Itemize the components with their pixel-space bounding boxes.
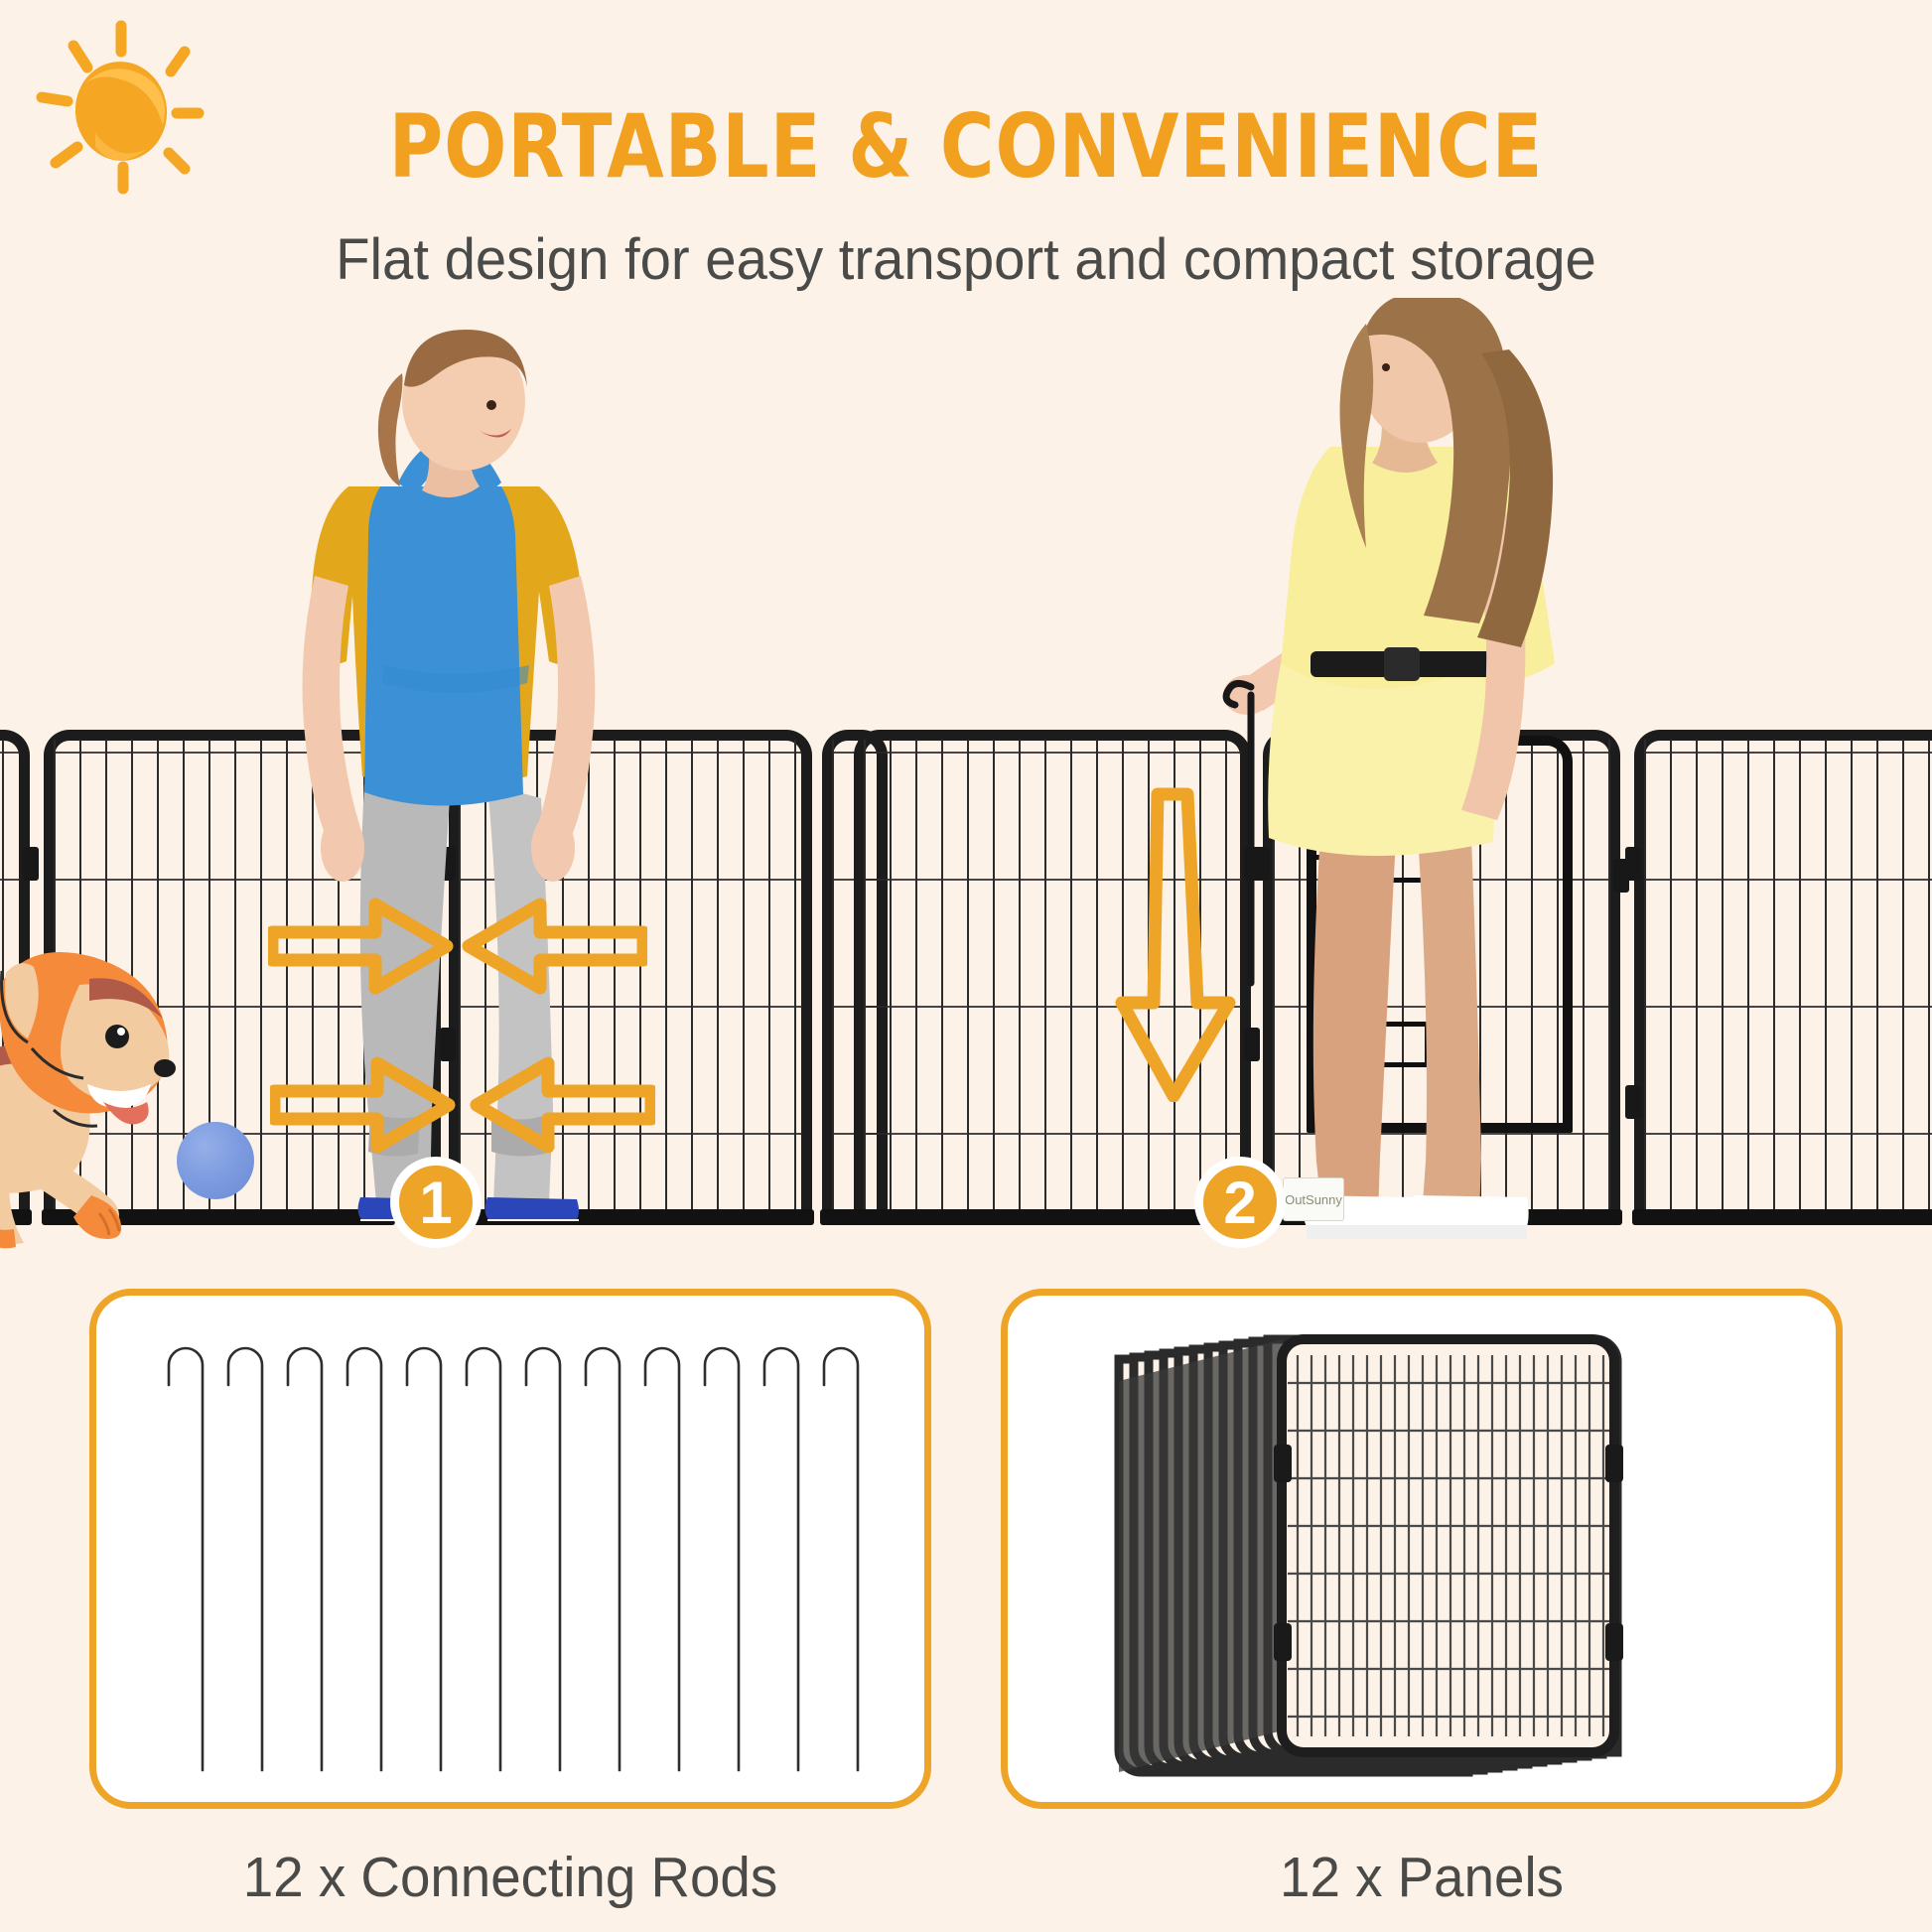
arrow-right-upper (268, 889, 467, 1003)
connecting-rods-card (89, 1289, 931, 1809)
arrow-down (1100, 784, 1239, 1107)
arrow-left-lower (457, 1047, 655, 1162)
page-subtitle: Flat design for easy transport and compa… (29, 226, 1903, 293)
panels-label: 12 x Panels (1018, 1845, 1826, 1910)
fence-panel (1634, 730, 1932, 1221)
arrow-left-upper (449, 889, 647, 1003)
panels-card (1001, 1289, 1843, 1809)
arrow-right-lower (270, 1047, 469, 1162)
connecting-rods-label: 12 x Connecting Rods (106, 1845, 914, 1910)
step-badge-1: 1 (390, 1157, 482, 1248)
brand-tag-label: OutSunny (1283, 1177, 1344, 1221)
step-badge-2: 2 (1194, 1157, 1286, 1248)
puppy-illustration (0, 933, 268, 1261)
page-title: PORTABLE & CONVENIENCE (58, 95, 1873, 198)
infographic-stage: PORTABLE & CONVENIENCE Flat design for e… (0, 0, 1932, 1932)
